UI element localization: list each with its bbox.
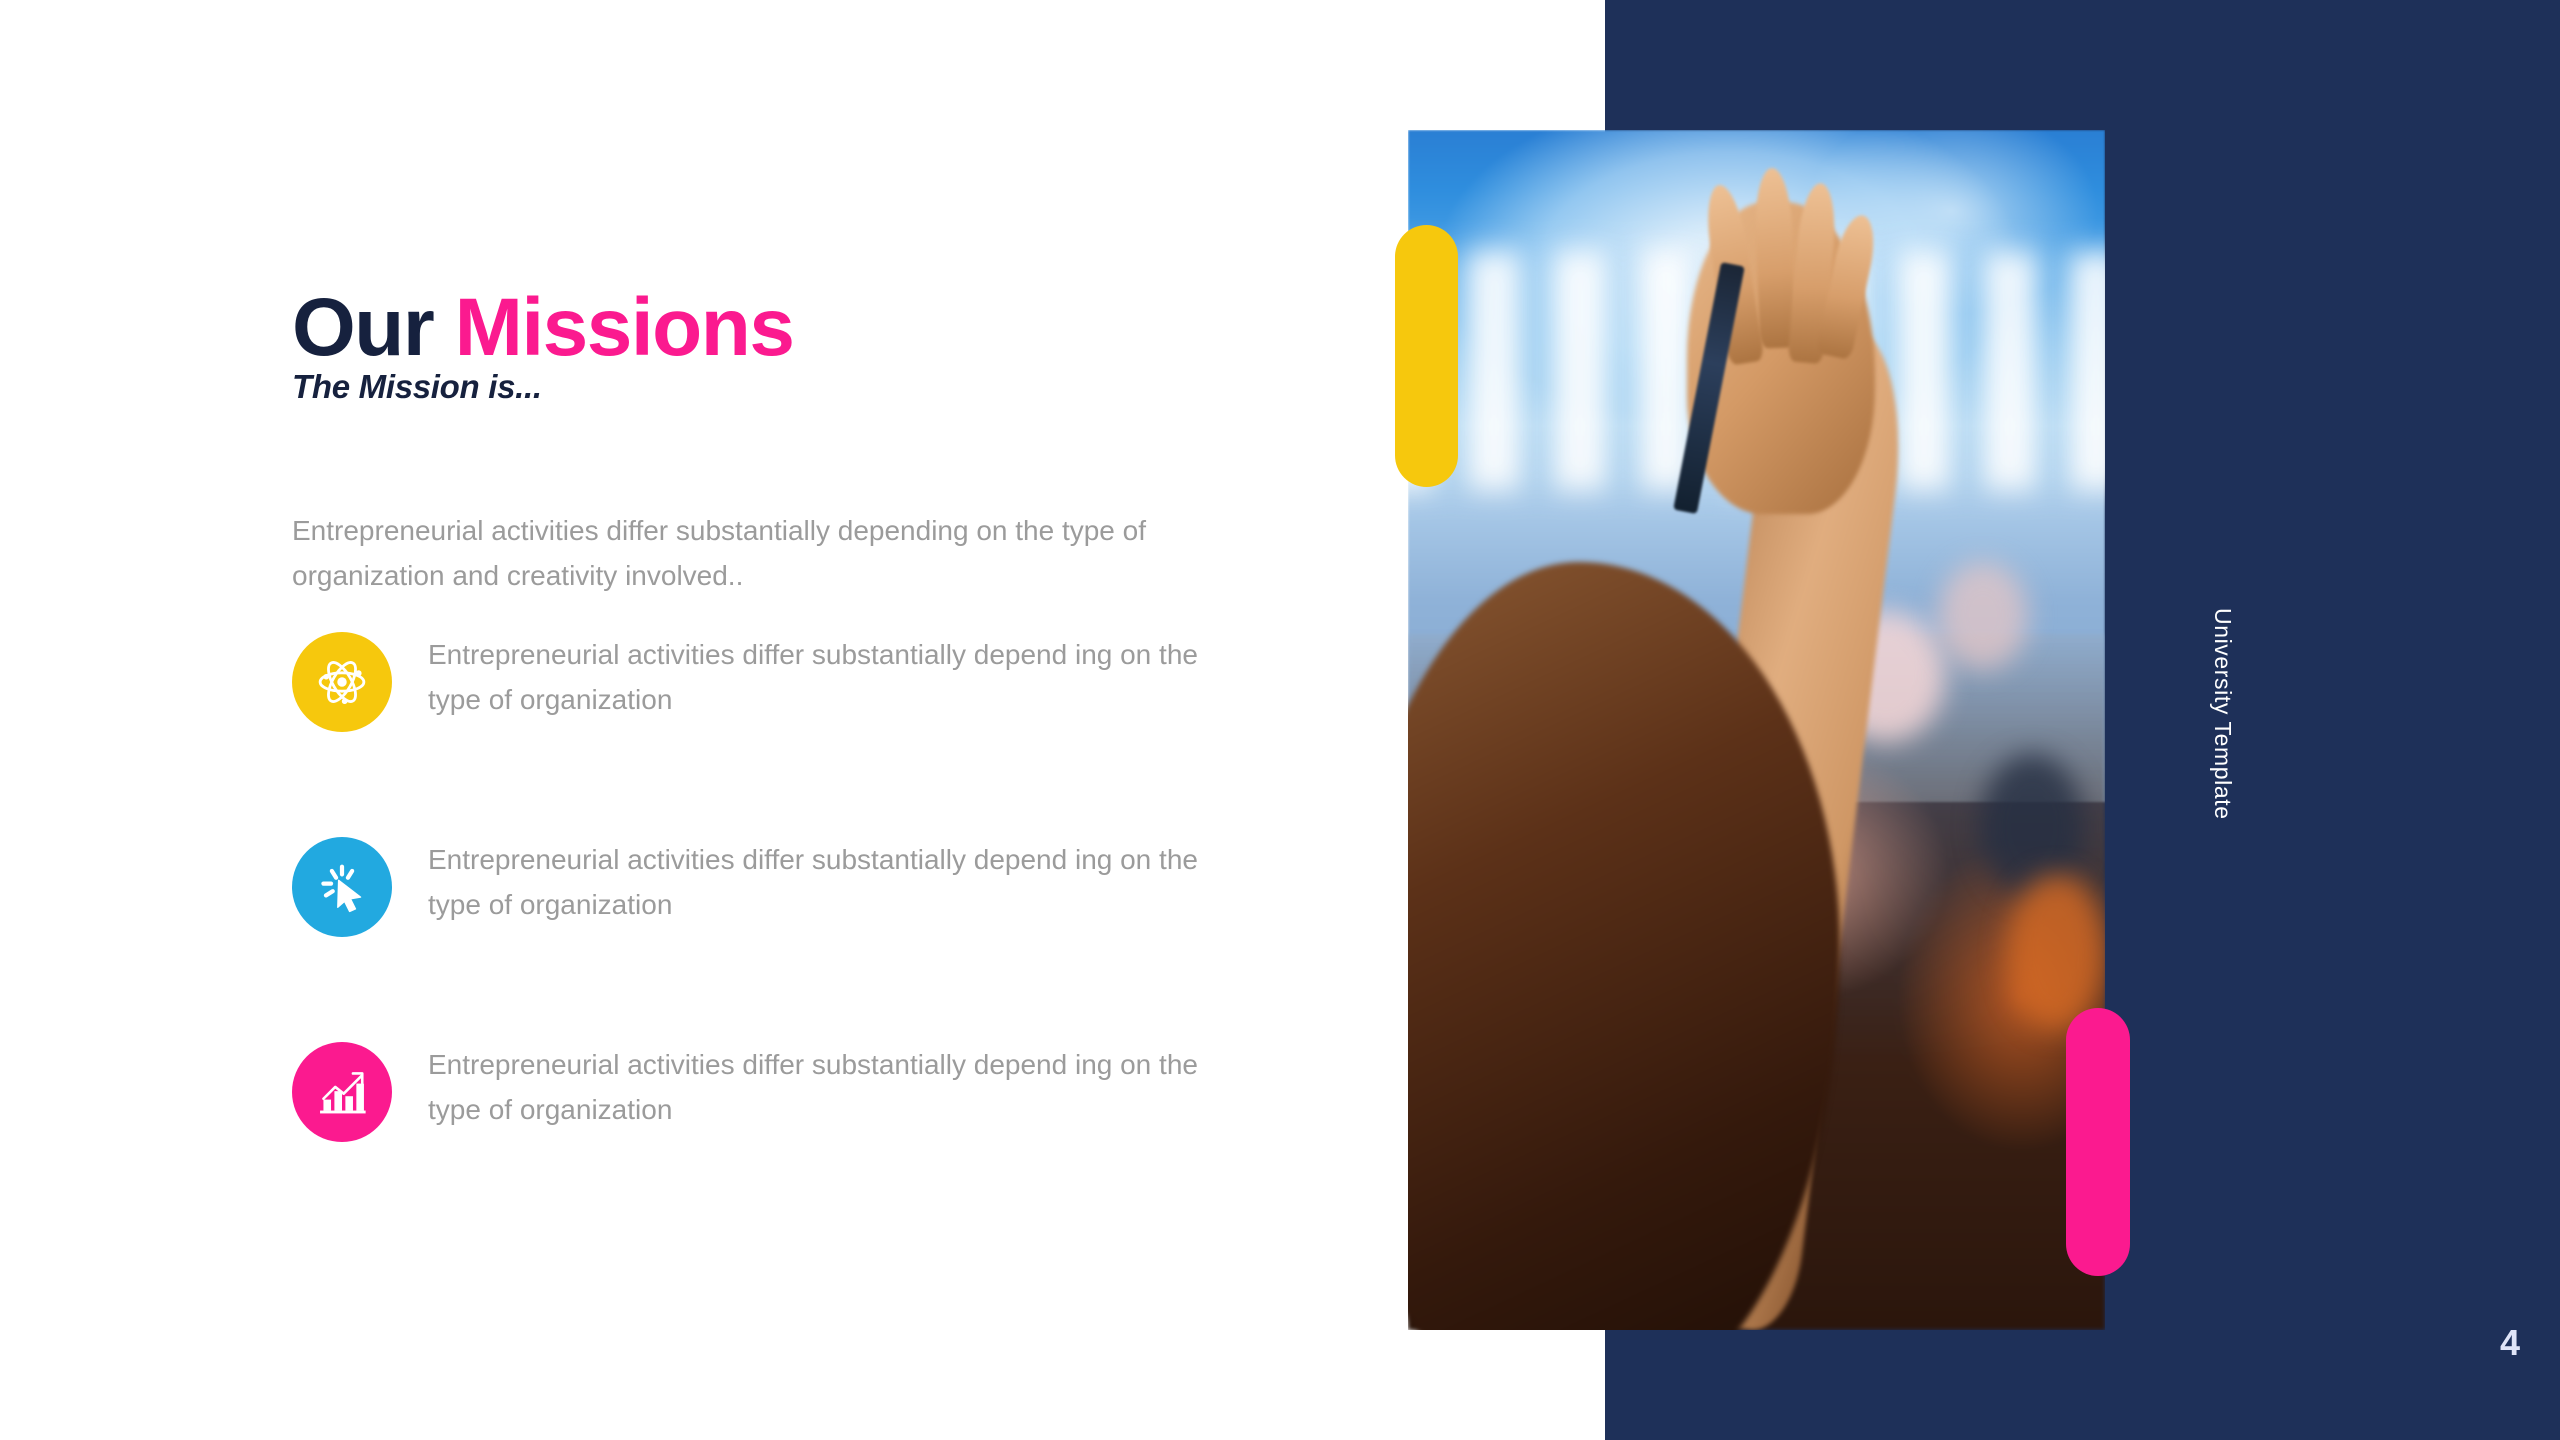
- feature-text: Entrepreneurial activities differ substa…: [428, 632, 1228, 723]
- photo-bokeh-4: [2007, 874, 2105, 1030]
- feature-item[interactable]: Entrepreneurial activities differ substa…: [292, 632, 1292, 837]
- page-number: 4: [2500, 1325, 2520, 1361]
- vertical-template-label: University Template: [2196, 608, 2236, 820]
- yellow-accent-pill: [1395, 225, 1458, 487]
- feature-text: Entrepreneurial activities differ substa…: [428, 837, 1228, 928]
- photo-bokeh-2: [1938, 562, 2029, 670]
- lead-paragraph: Entrepreneurial activities differ substa…: [292, 508, 1222, 599]
- title-word-one: Our: [292, 282, 433, 373]
- title-word-two: Missions: [455, 282, 794, 373]
- audience-photo: [1408, 130, 2105, 1330]
- slide-root: University Template 4 Our Missions The M…: [0, 0, 2560, 1440]
- page-subtitle: The Mission is...: [292, 368, 542, 406]
- feature-text: Entrepreneurial activities differ substa…: [428, 1042, 1228, 1133]
- page-title: Our Missions: [292, 287, 793, 369]
- atom-icon: [292, 632, 392, 732]
- photo-layers: [1408, 130, 2105, 1330]
- feature-list: Entrepreneurial activities differ substa…: [292, 632, 1292, 1247]
- feature-item[interactable]: Entrepreneurial activities differ substa…: [292, 1042, 1292, 1247]
- left-content-column: Our Missions The Mission is... Entrepren…: [292, 0, 1292, 1440]
- growth-chart-icon: [292, 1042, 392, 1142]
- cursor-click-icon: [292, 837, 392, 937]
- feature-item[interactable]: Entrepreneurial activities differ substa…: [292, 837, 1292, 1042]
- pink-accent-pill: [2066, 1008, 2130, 1276]
